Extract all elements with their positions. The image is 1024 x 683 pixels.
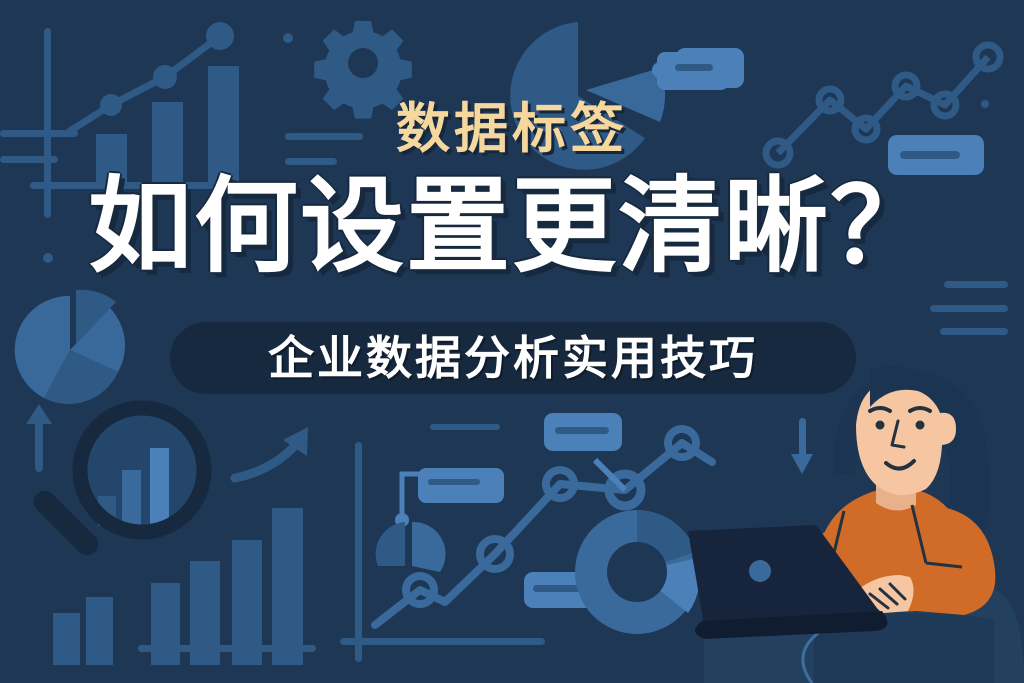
bl-bar-6 [272,508,303,665]
trend-marker-3 [206,22,234,50]
bc-x-axis [340,638,545,645]
poster-canvas: 数据标签 如何设置更清晰？ 企业数据分析实用技巧 [0,0,1024,683]
bc-label-box-1-line [428,479,480,485]
bar-1 [96,134,127,189]
cross-horizontal [30,182,98,189]
cross-vertical [44,160,51,218]
gear-hole [348,48,378,78]
woman-with-laptop-pointing [664,353,1024,683]
label-box-line [675,64,713,71]
bc-label-box-1 [418,468,504,503]
eye-left [876,421,885,430]
dot-left-1 [43,253,53,263]
rule-mid-1 [285,133,363,140]
label-box-right-line [900,151,960,159]
bc-label-box-2-line [555,427,609,434]
dot-top-1 [283,33,293,43]
rule-mid-2 [285,158,337,165]
bar-3 [208,66,239,189]
bl-bar-1 [53,613,80,665]
trend-marker-1 [100,94,122,116]
laptop-logo-icon [749,560,771,582]
magnifier-bar-2 [122,470,141,526]
dot-right-1 [981,100,989,108]
donut-hole [607,542,667,602]
magnifier-bar-3 [150,448,169,526]
bl-bar-2 [86,597,113,665]
rule-right-2 [930,305,1008,312]
trend-marker-2 [153,65,177,89]
bar-2 [152,102,183,189]
bc-y-axis [355,442,362,642]
gear-icon [314,21,412,119]
rule-right-3 [940,328,1008,335]
rule-right-1 [944,281,1008,288]
rule-bottom-1 [430,424,500,430]
bc-origin-tick [355,620,362,662]
bl-baseline [138,645,316,652]
rule-left-1 [0,130,78,137]
bl-bar-3 [151,583,180,665]
eye-right [916,421,925,430]
up-arrow-shaft [35,418,43,472]
